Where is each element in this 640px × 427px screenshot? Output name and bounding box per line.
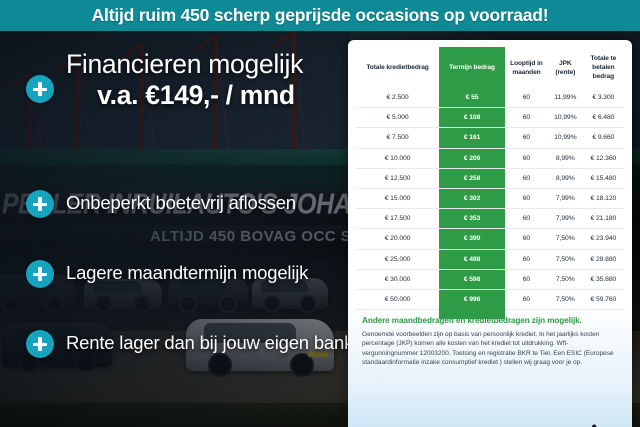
- table-row: € 50.000 € 996 60 7,50% € 59.760: [356, 289, 624, 309]
- cell-total-credit: € 25.000: [356, 249, 439, 269]
- cell-total-credit: € 5.000: [356, 108, 439, 128]
- financing-card: Totale kredietbedrag Termijn bedrag Loop…: [348, 40, 632, 427]
- advertisement-banner: Altijd ruim 450 scherp geprijsde occasio…: [0, 0, 640, 427]
- cell-monthly-amount: € 498: [439, 249, 505, 269]
- cell-apr: 7,50%: [548, 249, 583, 269]
- bullet-item-2: Lagere maandtermijn mogelijk: [66, 262, 308, 284]
- column-header-apr: JPK (rente): [548, 47, 583, 88]
- top-banner: Altijd ruim 450 scherp geprijsde occasio…: [0, 0, 640, 31]
- cell-total-credit: € 2.500: [356, 88, 439, 108]
- cell-duration: 60: [505, 209, 548, 229]
- cell-total-payable: € 35.880: [583, 269, 624, 289]
- cell-total-payable: € 23.940: [583, 229, 624, 249]
- plus-circle-icon: [26, 75, 54, 103]
- cell-monthly-amount: € 399: [439, 229, 505, 249]
- legal-disclaimer: Andere maandbedragen en kredietbedragen …: [362, 316, 618, 368]
- cell-duration: 60: [505, 249, 548, 269]
- cell-duration: 60: [505, 229, 548, 249]
- cell-monthly-amount: € 598: [439, 269, 505, 289]
- cell-apr: 8,99%: [548, 148, 583, 168]
- column-header-total-credit: Totale kredietbedrag: [356, 47, 439, 88]
- cell-apr: 7,50%: [548, 289, 583, 309]
- cell-total-payable: € 9.660: [583, 128, 624, 148]
- headline-line-1: Financieren mogelijk: [66, 49, 346, 79]
- cell-duration: 60: [505, 269, 548, 289]
- rate-table: Totale kredietbedrag Termijn bedrag Loop…: [356, 47, 624, 310]
- cell-duration: 60: [505, 168, 548, 188]
- cell-total-credit: € 10.000: [356, 148, 439, 168]
- table-row: € 12.500 € 258 60 8,99% € 15.480: [356, 168, 624, 188]
- legal-body: Genoemde voorbeelden zijn op basis van p…: [362, 330, 618, 368]
- cell-duration: 60: [505, 289, 548, 309]
- cell-total-payable: € 29.880: [583, 249, 624, 269]
- column-header-monthly-amount: Termijn bedrag: [439, 47, 505, 88]
- cell-duration: 60: [505, 128, 548, 148]
- table-row: € 2.500 € 55 60 11,99% € 3.300: [356, 88, 624, 108]
- cell-monthly-amount: € 996: [439, 289, 505, 309]
- cell-apr: 7,99%: [548, 188, 583, 208]
- table-row: € 5.000 € 108 60 10,99% € 6.480: [356, 108, 624, 128]
- table-row: € 7.500 € 161 60 10,99% € 9.660: [356, 128, 624, 148]
- cell-total-payable: € 15.480: [583, 168, 624, 188]
- left-copy-block: Financieren mogelijk v.a. €149,- / mnd O…: [0, 31, 350, 427]
- cell-total-payable: € 12.360: [583, 148, 624, 168]
- cell-duration: 60: [505, 88, 548, 108]
- cell-total-credit: € 50.000: [356, 289, 439, 309]
- table-header-row: Totale kredietbedrag Termijn bedrag Loop…: [356, 47, 624, 88]
- table-row: € 25.000 € 498 60 7,50% € 29.880: [356, 249, 624, 269]
- rate-table-body: € 2.500 € 55 60 11,99% € 3.300 € 5.000 €…: [356, 88, 624, 310]
- rate-table-wrapper: Totale kredietbedrag Termijn bedrag Loop…: [356, 47, 624, 310]
- headline: Financieren mogelijk v.a. €149,- / mnd: [66, 49, 346, 111]
- cell-monthly-amount: € 302: [439, 188, 505, 208]
- cell-total-credit: € 17.500: [356, 209, 439, 229]
- cell-total-credit: € 30.000: [356, 269, 439, 289]
- cell-monthly-amount: € 161: [439, 128, 505, 148]
- cell-duration: 60: [505, 188, 548, 208]
- cell-apr: 7,50%: [548, 229, 583, 249]
- plus-circle-icon: [26, 330, 54, 358]
- cell-monthly-amount: € 108: [439, 108, 505, 128]
- cell-monthly-amount: € 353: [439, 209, 505, 229]
- cell-total-payable: € 59.760: [583, 289, 624, 309]
- column-header-total-payable: Totale te betalen bedrag: [583, 47, 624, 88]
- cell-apr: 8,99%: [548, 168, 583, 188]
- table-row: € 20.000 € 399 60 7,50% € 23.940: [356, 229, 624, 249]
- cell-total-credit: € 7.500: [356, 128, 439, 148]
- cell-duration: 60: [505, 108, 548, 128]
- cell-apr: 7,50%: [548, 269, 583, 289]
- table-row: € 17.500 € 353 60 7,99% € 21.180: [356, 209, 624, 229]
- bullet-item-1: Onbeperkt boetevrij aflossen: [66, 192, 296, 214]
- cell-monthly-amount: € 206: [439, 148, 505, 168]
- cell-total-credit: € 20.000: [356, 229, 439, 249]
- cell-monthly-amount: € 258: [439, 168, 505, 188]
- cell-total-payable: € 18.120: [583, 188, 624, 208]
- cell-total-credit: € 12.500: [356, 168, 439, 188]
- cell-total-credit: € 15.000: [356, 188, 439, 208]
- cell-duration: 60: [505, 148, 548, 168]
- cell-apr: 10,99%: [548, 128, 583, 148]
- cell-apr: 7,99%: [548, 209, 583, 229]
- column-header-duration: Looptijd in maanden: [505, 47, 548, 88]
- top-banner-text: Altijd ruim 450 scherp geprijsde occasio…: [92, 5, 549, 26]
- cell-apr: 11,99%: [548, 88, 583, 108]
- legal-title: Andere maandbedragen en kredietbedragen …: [362, 316, 618, 325]
- headline-line-2: v.a. €149,- / mnd: [66, 79, 346, 111]
- table-row: € 10.000 € 206 60 8,99% € 12.360: [356, 148, 624, 168]
- plus-circle-icon: [26, 190, 54, 218]
- table-row: € 30.000 € 598 60 7,50% € 35.880: [356, 269, 624, 289]
- cell-total-payable: € 21.180: [583, 209, 624, 229]
- cell-apr: 10,99%: [548, 108, 583, 128]
- cell-monthly-amount: € 55: [439, 88, 505, 108]
- table-row: € 15.000 € 302 60 7,99% € 18.120: [356, 188, 624, 208]
- cell-total-payable: € 6.480: [583, 108, 624, 128]
- cell-total-payable: € 3.300: [583, 88, 624, 108]
- plus-circle-icon: [26, 260, 54, 288]
- bullet-item-3: Rente lager dan bij jouw eigen bank: [66, 332, 353, 354]
